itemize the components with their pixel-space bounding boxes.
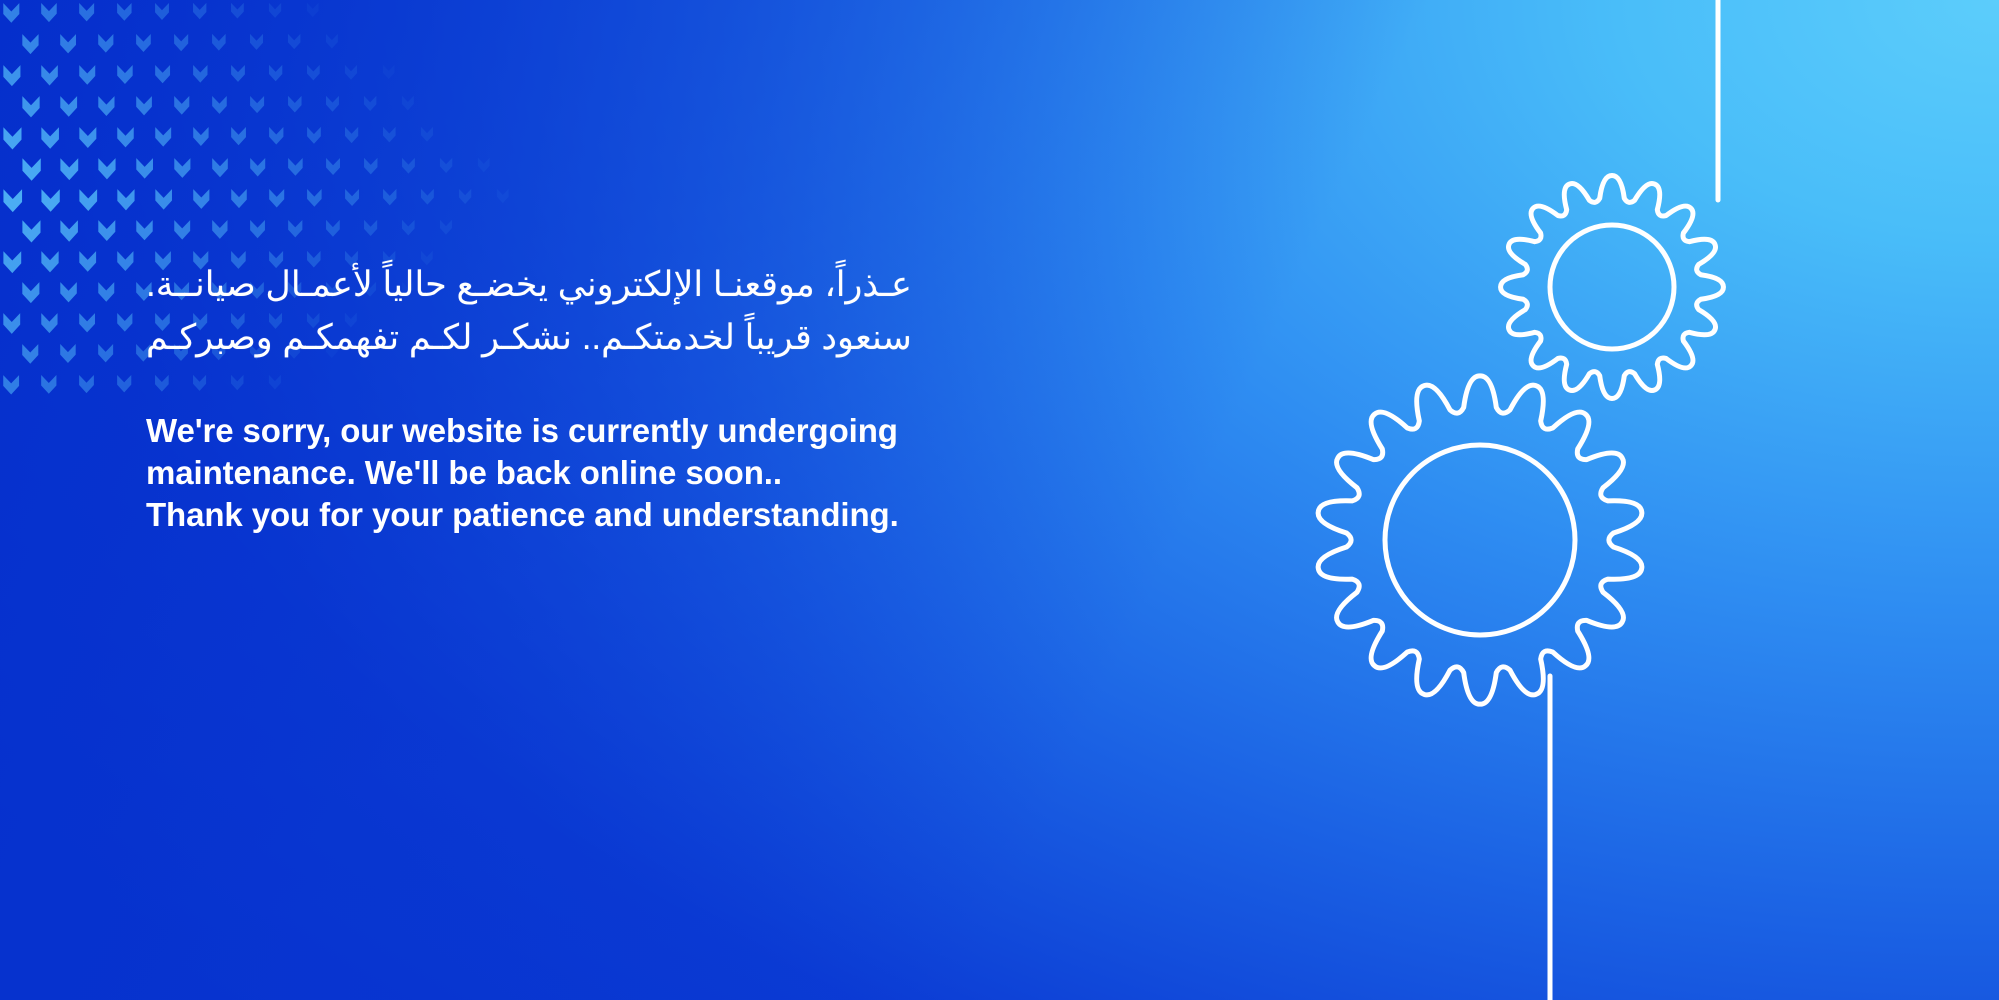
arabic-line-2: سنعود قريباً لخدمتكـم.. نشكـر لكـم تفهمك… (146, 311, 1146, 364)
arabic-line-1: عـذراً، موقعنـا الإلكتروني يخضـع حالياً … (146, 258, 1146, 311)
english-line-2: maintenance. We'll be back online soon.. (146, 452, 1146, 494)
english-line-1: We're sorry, our website is currently un… (146, 410, 1146, 452)
arabic-message: عـذراً، موقعنـا الإلكتروني يخضـع حالياً … (146, 258, 1146, 364)
maintenance-message: عـذراً، موقعنـا الإلكتروني يخضـع حالياً … (146, 258, 1146, 536)
english-message: We're sorry, our website is currently un… (146, 410, 1146, 536)
english-line-3: Thank you for your patience and understa… (146, 494, 1146, 536)
